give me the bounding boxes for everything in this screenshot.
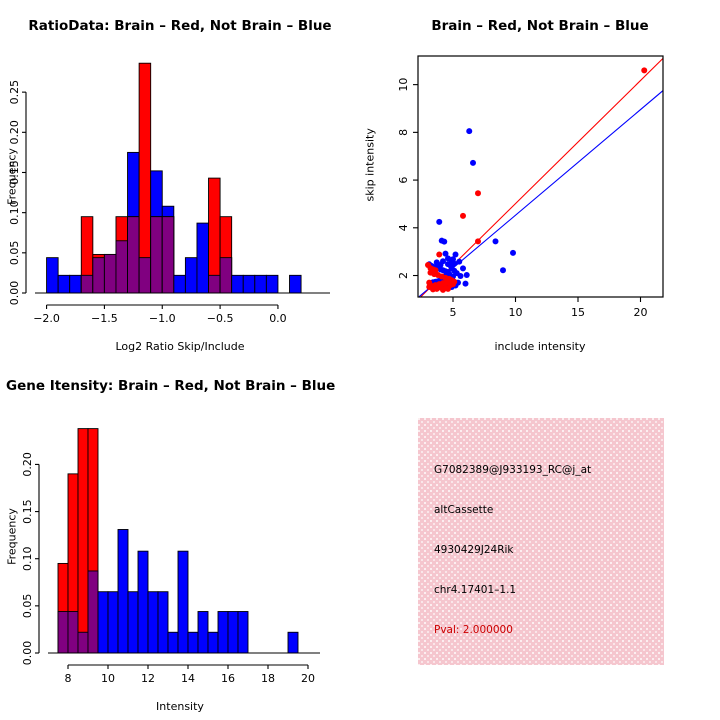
histogram-bar-not-brain	[232, 275, 244, 293]
histogram-bar-overlap	[58, 612, 68, 653]
x-tick-label: 20	[634, 306, 648, 319]
y-tick-label: 0.20	[21, 452, 34, 477]
histogram-bar-overlap	[151, 217, 163, 293]
y-tick-label: 0.15	[21, 499, 34, 524]
histogram-bar-not-brain	[266, 275, 278, 293]
scatter-xlabel: include intensity	[360, 340, 720, 353]
y-tick-label: 0.00	[8, 281, 21, 306]
scatter-point-brain	[641, 67, 647, 73]
scatter-point-brain	[475, 238, 481, 244]
info-line-probeset: G7082389@J933193_RC@j_at	[434, 464, 591, 476]
x-tick-label: 10	[509, 306, 523, 319]
scatter-point-brain	[450, 281, 456, 287]
y-tick-label: 0.20	[8, 120, 21, 145]
y-tick-label: 0.05	[8, 241, 21, 265]
histogram-bar-overlap	[93, 258, 105, 293]
scatter-plot: 5101520246810	[360, 0, 720, 360]
histogram-bar-not-brain	[198, 612, 208, 653]
x-tick-label: 8	[65, 672, 72, 685]
histogram-bar-not-brain	[228, 612, 238, 653]
histogram-bar-not-brain	[174, 275, 186, 293]
histogram-bar-not-brain	[108, 592, 118, 653]
histogram-bar-overlap	[209, 275, 221, 293]
x-tick-label: 5	[450, 306, 457, 319]
x-tick-label: 10	[101, 672, 115, 685]
x-tick-label: 0.0	[269, 312, 287, 325]
x-tick-label: 20	[301, 672, 315, 685]
ratio-histogram-plot: 0.000.050.100.150.200.25−2.0−1.5−1.0−0.5…	[0, 0, 360, 360]
info-line-pval: Pval: 2.000000	[434, 624, 513, 636]
y-tick-label: 0.00	[21, 641, 34, 666]
histogram-bar-overlap	[88, 571, 98, 653]
scatter-point-not-brain	[510, 250, 516, 256]
histogram-bar-not-brain	[185, 258, 197, 293]
scatter-point-brain	[425, 262, 431, 268]
x-tick-label: −0.5	[207, 312, 234, 325]
histogram-bar-not-brain	[208, 632, 218, 653]
histogram-bar-not-brain	[148, 592, 158, 653]
svg-gene-content: 0.000.050.100.150.208101214161820	[21, 429, 320, 685]
histogram-bar-overlap	[162, 217, 174, 293]
scatter-point-not-brain	[466, 128, 472, 134]
scatter-point-brain	[430, 286, 436, 292]
scatter-point-not-brain	[464, 272, 470, 278]
scatter-point-not-brain	[438, 262, 444, 268]
scatter-panel: Brain – Red, Not Brain – Blue 5101520246…	[360, 0, 720, 360]
scatter-ylabel: skip intensity	[364, 142, 377, 202]
histogram-bar-not-brain	[178, 551, 188, 653]
scatter-point-not-brain	[500, 267, 506, 273]
histogram-bar-overlap	[68, 612, 78, 653]
y-tick-label: 2	[397, 272, 410, 279]
gene-info-panel: G7082389@J933193_RC@j_at altCassette 493…	[360, 360, 720, 720]
scatter-point-not-brain	[470, 160, 476, 166]
scatter-point-not-brain	[493, 238, 499, 244]
scatter-point-not-brain	[460, 265, 466, 271]
histogram-bar-not-brain	[218, 612, 228, 653]
gene-histogram-plot: 0.000.050.100.150.208101214161820	[0, 360, 360, 720]
histogram-bar-not-brain	[197, 223, 209, 293]
scatter-inner	[419, 58, 663, 296]
histogram-bar-not-brain	[168, 632, 178, 653]
ratio-histogram-title: RatioData: Brain – Red, Not Brain – Blue	[0, 18, 360, 34]
scatter-point-not-brain	[441, 239, 447, 245]
y-tick-label: 8	[397, 129, 410, 136]
x-tick-label: −2.0	[33, 312, 60, 325]
x-tick-label: 16	[221, 672, 235, 685]
histogram-bar-not-brain	[243, 275, 255, 293]
svg-scatter-content: 5101520246810	[397, 56, 663, 319]
histogram-bar-overlap	[220, 258, 232, 293]
scatter-point-brain	[436, 252, 442, 258]
info-line-event-type: altCassette	[434, 504, 493, 516]
gene-histogram-xlabel: Intensity	[0, 700, 360, 713]
plot-page: RatioData: Brain – Red, Not Brain – Blue…	[0, 0, 720, 720]
histogram-bar-overlap	[116, 241, 128, 293]
scatter-point-brain	[475, 190, 481, 196]
histogram-bar-not-brain	[158, 592, 168, 653]
y-tick-label: 6	[397, 177, 410, 184]
scatter-point-brain	[460, 213, 466, 219]
histogram-bar-overlap	[139, 258, 151, 293]
scatter-point-not-brain	[445, 261, 451, 267]
scatter-point-not-brain	[454, 270, 460, 276]
scatter-point-brain	[440, 287, 446, 293]
histogram-bar-overlap	[104, 254, 116, 293]
x-tick-label: 18	[261, 672, 275, 685]
scatter-point-brain	[426, 280, 432, 286]
ratio-histogram-ylabel: Frequency	[6, 147, 19, 207]
histogram-bar-not-brain	[98, 592, 108, 653]
histogram-bar-not-brain	[70, 275, 82, 293]
x-tick-label: −1.5	[91, 312, 118, 325]
histogram-bar-overlap	[78, 632, 88, 653]
svg-ratio-content: 0.000.050.100.150.200.25−2.0−1.5−1.0−0.5…	[8, 63, 330, 325]
scatter-point-not-brain	[436, 219, 442, 225]
gene-histogram-title: Gene Itensity: Brain – Red, Not Brain – …	[6, 378, 335, 394]
gene-histogram-ylabel: Frequency	[6, 507, 19, 567]
histogram-bar-not-brain	[290, 275, 302, 293]
y-tick-label: 0.25	[8, 80, 21, 105]
histogram-bar-overlap	[128, 217, 140, 293]
y-tick-label: 0.05	[21, 594, 34, 619]
ratio-histogram-panel: RatioData: Brain – Red, Not Brain – Blue…	[0, 0, 360, 360]
y-tick-label: 0.10	[21, 546, 34, 571]
x-tick-label: 15	[571, 306, 585, 319]
scatter-point-brain	[445, 286, 451, 292]
ratio-histogram-xlabel: Log2 Ratio Skip/Include	[0, 340, 360, 353]
x-tick-label: 14	[181, 672, 195, 685]
histogram-bar-not-brain	[128, 592, 138, 653]
scatter-title: Brain – Red, Not Brain – Blue	[360, 18, 720, 34]
x-tick-label: −1.0	[149, 312, 176, 325]
histogram-bar-not-brain	[47, 258, 59, 293]
histogram-bar-overlap	[81, 275, 93, 293]
gene-histogram-panel: Gene Itensity: Brain – Red, Not Brain – …	[0, 360, 360, 720]
histogram-bar-not-brain	[138, 551, 148, 653]
info-background-rect: G7082389@J933193_RC@j_at altCassette 493…	[418, 418, 664, 665]
x-tick-label: 12	[141, 672, 155, 685]
histogram-bar-brain	[78, 429, 88, 653]
scatter-point-not-brain	[463, 281, 469, 287]
histogram-bar-not-brain	[118, 529, 128, 653]
histogram-bar-not-brain	[288, 632, 298, 653]
histogram-bar-not-brain	[188, 632, 198, 653]
y-tick-label: 10	[397, 78, 410, 92]
info-line-locus: chr4.17401–1.1	[434, 584, 516, 596]
y-tick-label: 4	[397, 224, 410, 231]
histogram-bar-not-brain	[255, 275, 267, 293]
scatter-point-not-brain	[453, 252, 459, 258]
info-line-gene-symbol: 4930429J24Rik	[434, 544, 514, 556]
histogram-bar-not-brain	[58, 275, 70, 293]
histogram-bar-not-brain	[238, 612, 248, 653]
